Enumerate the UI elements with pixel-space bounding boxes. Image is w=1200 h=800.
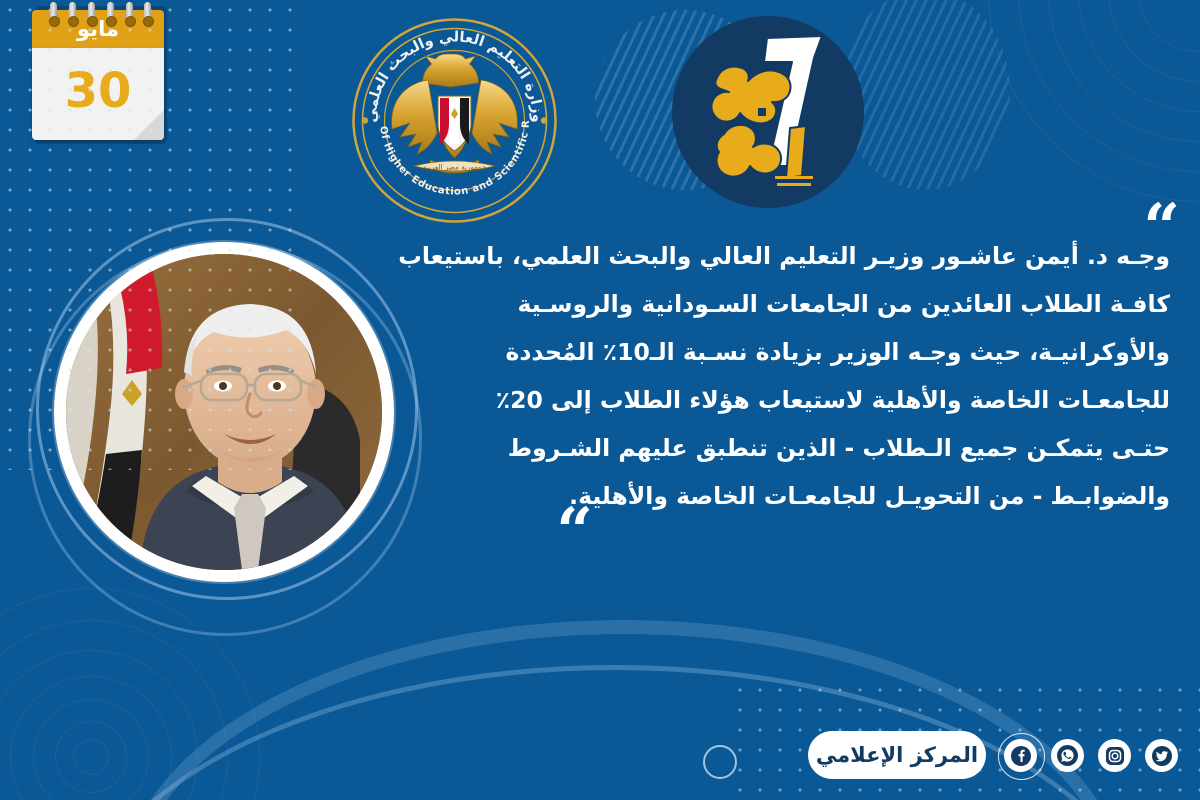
quote-line: حتـى يتمكـن جميع الـطلاب - الذين تنطبق ع… [480,424,1170,472]
calendar-ring-hole [125,16,136,27]
quote-text-block: وجـه د. أيمن عاشـور وزيـر التعليم العالي… [480,232,1170,520]
concentric-rings-bottom-left [73,739,109,775]
concentric-rings-top-right [1018,0,1200,172]
svg-text:جمهورية مصر العربية: جمهورية مصر العربية [423,163,486,172]
concentric-rings-bottom-left [10,676,172,800]
concentric-rings-top-right [988,0,1200,202]
quote-line: كافـة الطلاب العائدين من الجامعات السـود… [480,280,1170,328]
calendar-ring-hole [106,16,117,27]
quote-line: للجامعـات الخاصة والأهلية لاستيعاب هؤلاء… [480,376,1170,424]
poster-canvas: مايو 30 [0,0,1200,800]
concentric-rings-top-right [1108,0,1200,82]
facebook-icon[interactable] [1004,739,1037,772]
calendar-ring-hole [68,16,79,27]
social-icons-group[interactable] [1004,739,1178,772]
quote-close-mark: “ [556,500,593,564]
media-center-label: المركز الإعلامي [816,743,978,767]
concentric-rings-bottom-left [55,721,127,793]
concentric-rings-top-right [1078,0,1200,112]
program-logo-hassad-ayam [672,16,864,208]
ministry-logo: وزارة التعليم العالي والبحث العلمي Minis… [352,18,557,223]
quote-line: وجـه د. أيمن عاشـور وزيـر التعليم العالي… [480,232,1170,280]
concentric-rings-bottom-left [33,699,149,800]
twitter-icon[interactable] [1145,739,1178,772]
facebook-icon-ring [998,733,1045,780]
diagonal-stripes-right [840,0,1010,190]
calendar-ring-hole [87,16,98,27]
header-dot-pattern [0,0,300,470]
whatsapp-icon[interactable] [1051,739,1084,772]
calendar-ring-hole [49,16,60,27]
concentric-rings-top-right [1138,0,1200,52]
media-center-badge: المركز الإعلامي [808,731,986,779]
concentric-rings-bottom-left [0,650,198,800]
instagram-icon[interactable] [1098,739,1131,772]
calendar-ring-hole [143,16,154,27]
concentric-rings-top-right [1048,0,1200,142]
quote-line: والأوكرانيـة، حيث وجـه الوزير بزيادة نسـ… [480,328,1170,376]
